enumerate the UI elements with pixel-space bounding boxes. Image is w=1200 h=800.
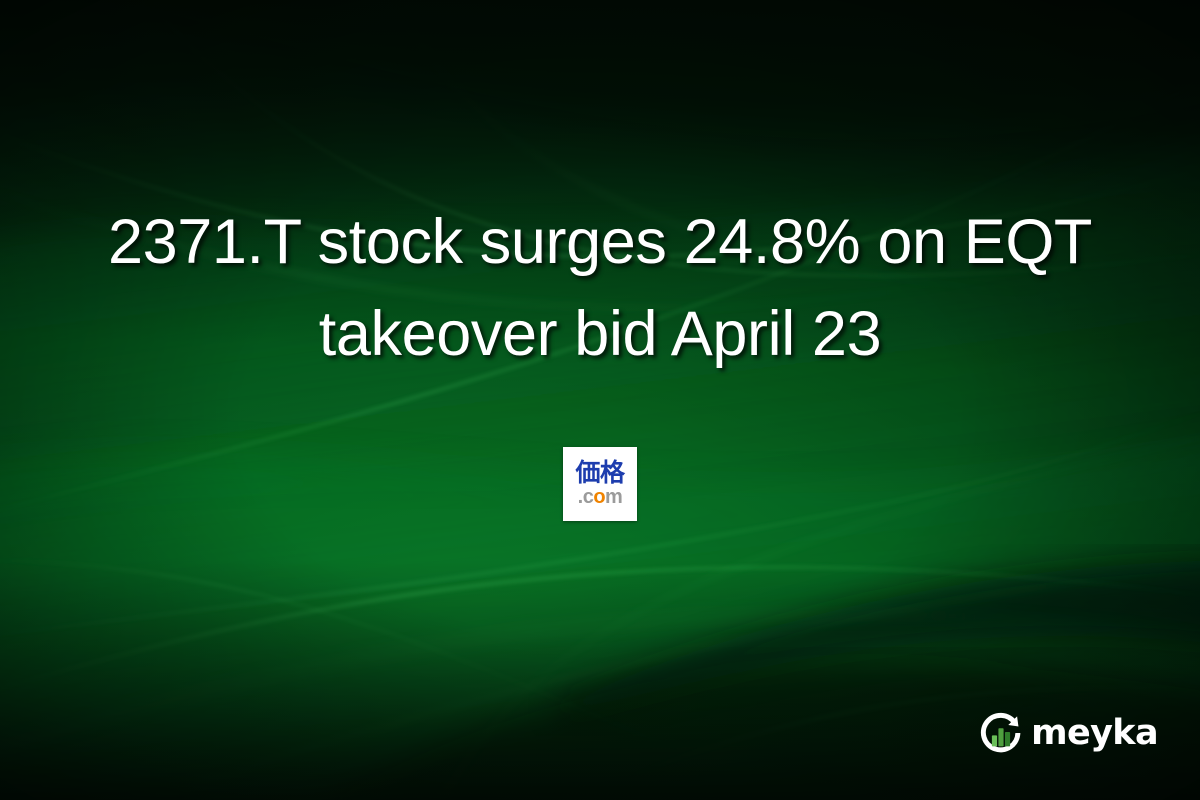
source-logo: 価格 .com [563, 447, 637, 521]
brand-watermark: meyka [978, 710, 1158, 756]
meyka-circular-arrow-bar-chart-icon [978, 710, 1024, 756]
background-bottom-shade [0, 0, 1200, 800]
source-logo-o: o [593, 486, 605, 508]
source-logo-c: c [583, 486, 594, 508]
page-title: 2371.T stock surges 24.8% on EQT takeove… [0, 196, 1200, 380]
social-share-card: 2371.T stock surges 24.8% on EQT takeove… [0, 0, 1200, 800]
source-logo-dotcom: .com [578, 487, 623, 508]
source-logo-m: m [605, 486, 622, 508]
source-logo-kanji: 価格 [575, 460, 624, 486]
brand-name: meyka [1031, 716, 1158, 751]
